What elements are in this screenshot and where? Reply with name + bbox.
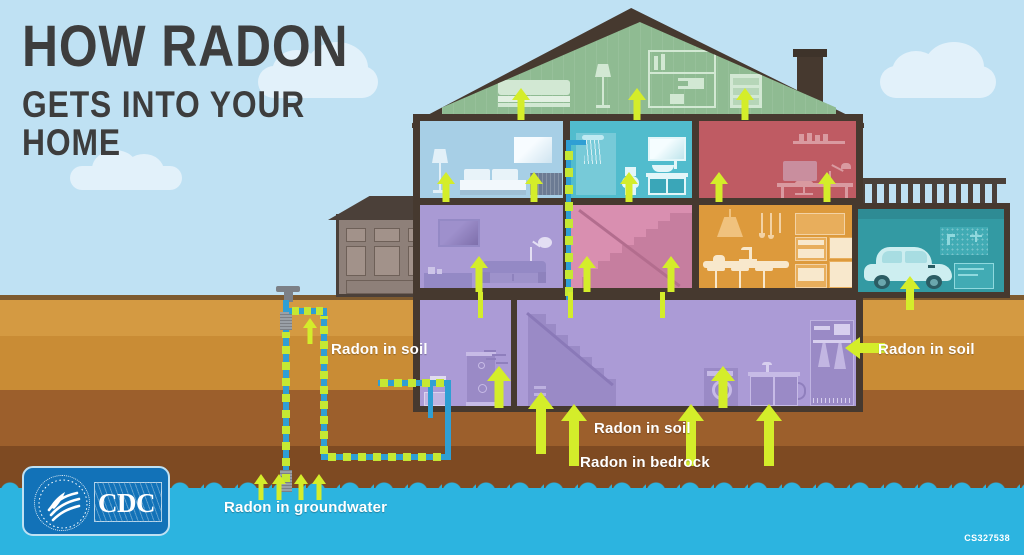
bathroom-vanity-sink bbox=[646, 165, 688, 195]
room-living-room bbox=[420, 205, 563, 288]
radon-arrow-garage bbox=[900, 276, 920, 310]
basement-utility-sink bbox=[748, 362, 806, 406]
radon-arrow-bathroom bbox=[620, 172, 638, 202]
flow-arrows-shower-riser bbox=[565, 146, 573, 296]
title-line-2: GETS INTO YOUR HOME bbox=[22, 86, 383, 162]
living-room-media-console bbox=[424, 267, 472, 288]
kitchen-refrigerator bbox=[829, 237, 853, 288]
flow-arrows-supply-heater bbox=[380, 379, 446, 387]
label-radon-in-bedrock: Radon in bedrock bbox=[580, 454, 710, 471]
chimney-cap bbox=[793, 49, 827, 57]
radon-arrow-office-right bbox=[818, 172, 836, 202]
basement-wardrobe bbox=[810, 320, 854, 406]
flow-arrows-supply-top bbox=[292, 307, 326, 315]
supply-line-sump bbox=[428, 386, 433, 418]
label-radon-in-groundwater: Radon in groundwater bbox=[224, 499, 387, 516]
hhs-seal-icon bbox=[34, 475, 90, 531]
radon-arrow-groundwater-3 bbox=[294, 474, 308, 500]
radon-arrow-bedroom-right bbox=[525, 172, 543, 202]
radon-wisp-basement-b bbox=[568, 292, 573, 318]
radon-arrow-soil-near-well bbox=[303, 318, 317, 344]
well-screen bbox=[280, 312, 292, 330]
attic-floor-lamp bbox=[592, 64, 614, 108]
room-garage bbox=[858, 209, 1004, 292]
radon-arrow-basement-mid bbox=[528, 392, 554, 454]
radon-arrow-basement-left bbox=[487, 366, 511, 408]
bedroom-framed-picture bbox=[514, 137, 552, 163]
radon-arrow-groundwater-2 bbox=[272, 474, 286, 500]
cdc-logo[interactable]: CDC bbox=[22, 466, 170, 536]
radon-wisp-basement-a bbox=[478, 292, 483, 318]
label-radon-in-soil-center: Radon in soil bbox=[594, 420, 691, 437]
office-wall-shelf bbox=[793, 133, 845, 145]
office-chair bbox=[791, 181, 817, 198]
radon-arrow-basement-right bbox=[711, 366, 735, 408]
attic-shelving-unit bbox=[648, 50, 716, 108]
radon-arrow-bedroom-left bbox=[437, 172, 455, 202]
living-room-sofa bbox=[482, 261, 546, 288]
label-radon-in-soil-right: Radon in soil bbox=[878, 341, 975, 358]
kitchen-upper-cabinet bbox=[795, 213, 845, 235]
kitchen-pendant-lamp bbox=[715, 209, 745, 239]
flow-arrows-supply-vertical bbox=[320, 316, 328, 454]
page-title: HOW RADON GETS INTO YOUR HOME bbox=[22, 18, 442, 162]
bathroom-shower bbox=[572, 125, 616, 195]
radon-arrow-living-room bbox=[470, 256, 488, 292]
radon-arrow-groundwater-1 bbox=[254, 474, 268, 500]
radon-arrow-attic-right bbox=[736, 88, 754, 120]
infographic-canvas: HOW RADON GETS INTO YOUR HOME bbox=[0, 0, 1024, 555]
label-radon-in-soil-left: Radon in soil bbox=[331, 341, 428, 358]
kitchen-oven bbox=[795, 237, 827, 288]
bathroom-mirror bbox=[648, 137, 686, 161]
cloud-right bbox=[880, 42, 1005, 96]
radon-arrow-soil-right bbox=[756, 404, 782, 466]
radon-arrow-kitchen bbox=[662, 256, 680, 292]
flow-arrows-supply-bottom bbox=[328, 453, 448, 461]
room-kitchen bbox=[699, 205, 856, 288]
basement-wall-crack bbox=[484, 348, 510, 366]
room-basement bbox=[420, 300, 856, 406]
publication-id: CS327538 bbox=[964, 533, 1010, 543]
radon-arrow-attic-left bbox=[512, 88, 530, 120]
garage-workbench bbox=[954, 263, 994, 289]
title-line-1: HOW RADON bbox=[22, 18, 383, 76]
flow-arrows-well-riser bbox=[282, 332, 290, 482]
radon-arrow-office-left bbox=[710, 172, 728, 202]
bedroom-bed bbox=[460, 169, 526, 195]
attic-sofa bbox=[498, 80, 570, 108]
supply-line-basement-riser bbox=[445, 380, 451, 460]
radon-wisp-basement-c bbox=[660, 292, 665, 318]
kitchen-bar-stools bbox=[707, 267, 781, 288]
radon-arrow-attic-mid bbox=[628, 88, 646, 120]
shower-supply-elbow bbox=[566, 140, 586, 145]
radon-arrow-groundwater-4 bbox=[312, 474, 326, 500]
basement-divider-wall bbox=[511, 300, 517, 406]
radon-arrow-stairwell bbox=[578, 256, 596, 292]
living-room-television bbox=[438, 219, 480, 247]
kitchen-hanging-utensils bbox=[759, 213, 785, 239]
cdc-wordmark: CDC bbox=[98, 488, 155, 519]
